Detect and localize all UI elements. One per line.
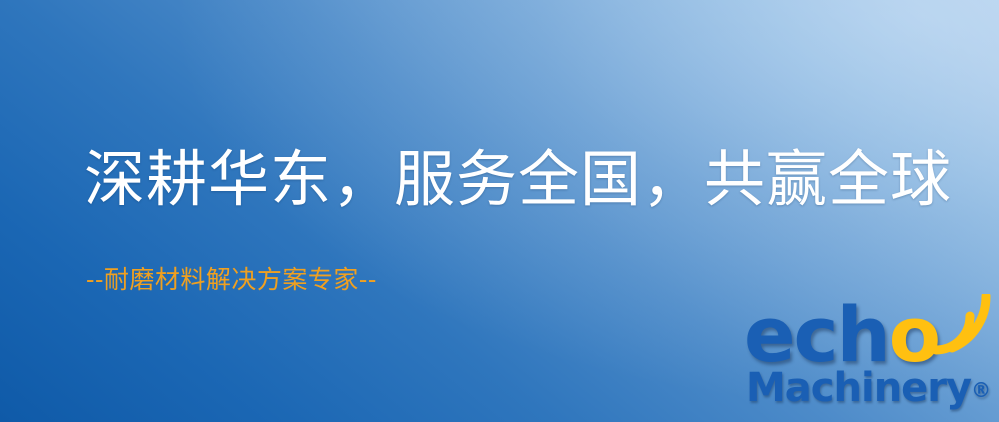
company-logo: echo Machinery® bbox=[744, 296, 996, 420]
signal-arcs-icon bbox=[930, 294, 994, 356]
hero-banner: 深耕华东，服务全国，共赢全球 --耐磨材料解决方案专家-- echo Machi… bbox=[0, 0, 999, 422]
logo-subtext: Machinery® bbox=[746, 366, 991, 412]
headline-text: 深耕华东，服务全国，共赢全球 bbox=[84, 148, 952, 212]
logo-subtext-label: Machinery bbox=[746, 365, 971, 411]
subtitle-text: --耐磨材料解决方案专家-- bbox=[86, 266, 377, 294]
registered-trademark-icon: ® bbox=[971, 378, 991, 402]
